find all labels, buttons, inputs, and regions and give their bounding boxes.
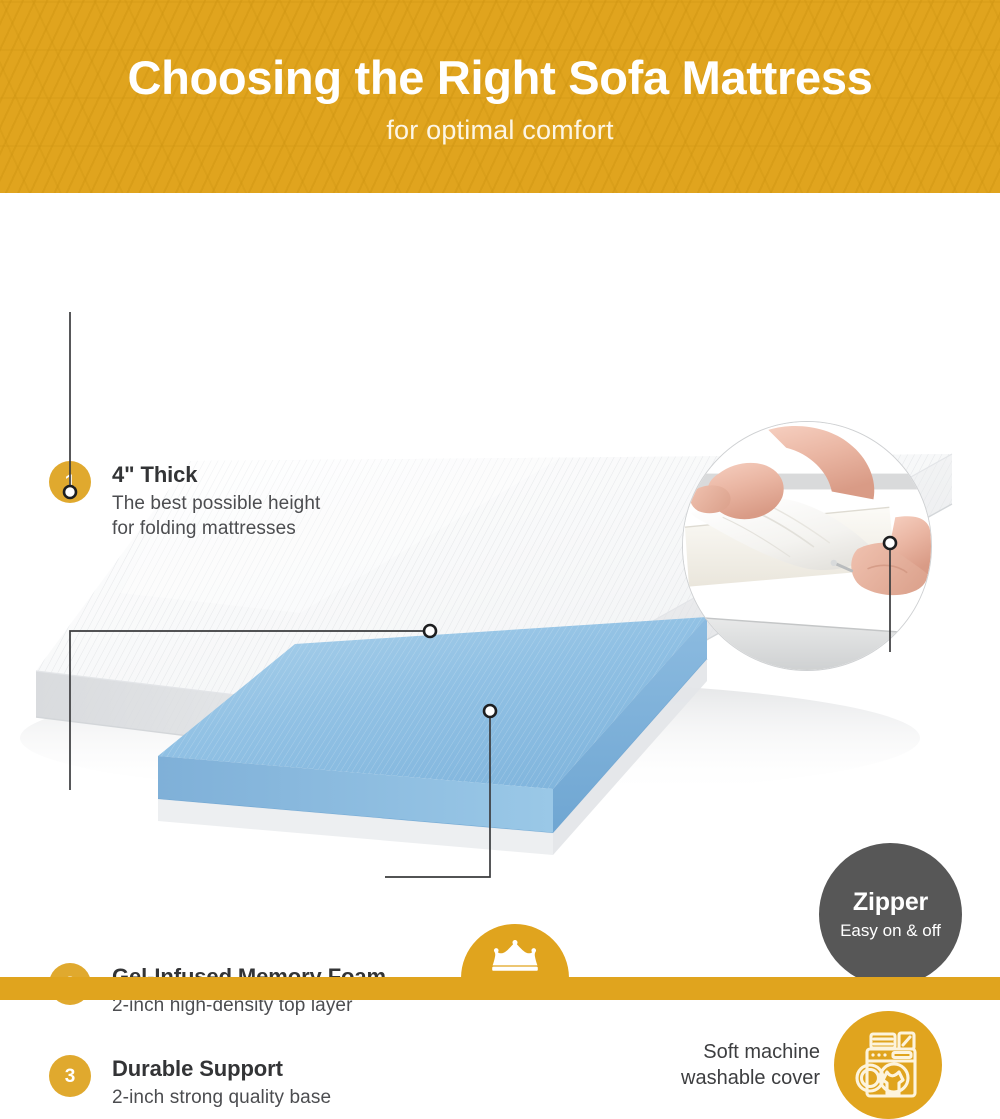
- washing-machine-icon: [834, 1011, 942, 1119]
- callout-1-desc: The best possible height for folding mat…: [112, 491, 320, 541]
- zipper-badge-subtitle: Easy on & off: [840, 922, 941, 939]
- callout-1: 1 4" Thick The best possible height for …: [49, 461, 320, 541]
- crown-icon: [484, 938, 546, 972]
- callout-3-badge: 3: [49, 1055, 91, 1097]
- page-title: Choosing the Right Sofa Mattress: [127, 53, 872, 102]
- washable-cover-label: Soft machine washable cover: [640, 1039, 820, 1091]
- callout-3-title: Durable Support: [112, 1056, 331, 1081]
- header-banner: Choosing the Right Sofa Mattress for opt…: [0, 0, 1000, 193]
- zipper-badge-title: Zipper: [853, 890, 928, 915]
- washable-cover-feature: Soft machine washable cover: [640, 1011, 942, 1119]
- zipper-photo: [683, 422, 931, 670]
- callout-3-desc: 2-inch strong quality base: [112, 1085, 331, 1110]
- zipper-photo-circle: [682, 421, 932, 671]
- product-stage: 1 4" Thick The best possible height for …: [0, 193, 1000, 1000]
- page-subtitle: for optimal comfort: [386, 115, 613, 146]
- footer-bar: [0, 977, 1000, 1000]
- callout-1-title: 4" Thick: [112, 462, 320, 487]
- callout-1-badge: 1: [49, 461, 91, 503]
- zipper-badge: Zipper Easy on & off: [819, 843, 962, 986]
- callout-3: 3 Durable Support 2-inch strong quality …: [49, 1055, 331, 1110]
